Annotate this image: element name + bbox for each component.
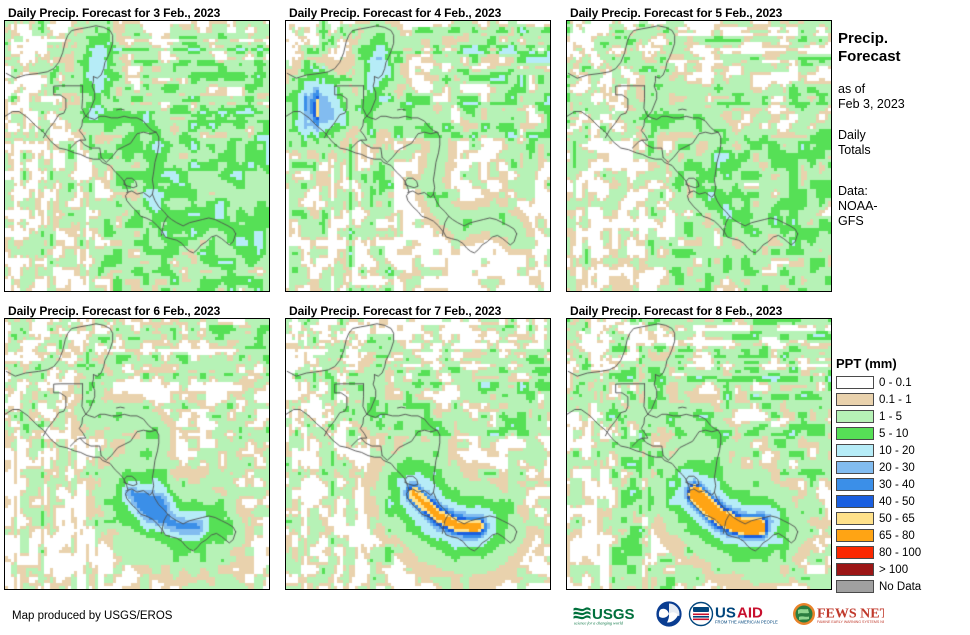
fewsnet-logo[interactable]: FEWS NET FAMINE EARLY WARNING SYSTEMS NE… [792,601,884,627]
legend-swatch [836,410,874,423]
legend-row: 0 - 0.1 [836,374,970,391]
legend-swatch [836,563,874,576]
map-canvas-frame[interactable] [285,20,551,292]
legend: PPT (mm) 0 - 0.10.1 - 11 - 55 - 1010 - 2… [836,356,970,595]
map-canvas-frame[interactable] [4,20,270,292]
legend-row: No Data [836,578,970,595]
panel-title: Daily Precip. Forecast for 7 Feb., 2023 [289,304,551,318]
legend-swatch [836,444,874,457]
sidebar-title: Precip. Forecast [838,30,970,66]
data-line3: GFS [838,214,970,229]
legend-label: 20 - 30 [879,462,915,474]
legend-row: 1 - 5 [836,408,970,425]
legend-swatch [836,546,874,559]
map-panel-1: Daily Precip. Forecast for 3 Feb., 2023 [4,6,270,292]
legend-label: No Data [879,581,921,593]
legend-label: 0.1 - 1 [879,394,912,406]
panel-title: Daily Precip. Forecast for 5 Feb., 2023 [570,6,832,20]
legend-label: 1 - 5 [879,411,902,423]
noaa-logo[interactable] [656,601,682,627]
svg-text:science for a changing world: science for a changing world [574,621,624,626]
precip-raster [5,319,269,589]
legend-swatch [836,512,874,525]
legend-label: 30 - 40 [879,479,915,491]
precip-raster [567,21,831,291]
legend-label: 10 - 20 [879,445,915,457]
precip-raster [286,21,550,291]
legend-label: 5 - 10 [879,428,908,440]
svg-text:FROM THE AMERICAN PEOPLE: FROM THE AMERICAN PEOPLE [715,620,778,625]
totals-line2: Totals [838,143,970,158]
agency-logos: USGS science for a changing world US [572,601,884,627]
legend-row: 5 - 10 [836,425,970,442]
legend-swatch [836,461,874,474]
legend-row: 80 - 100 [836,544,970,561]
sidebar-title-line1: Precip. [838,30,970,48]
legend-label: > 100 [879,564,908,576]
legend-title: PPT (mm) [836,356,970,371]
legend-row: > 100 [836,561,970,578]
legend-row: 65 - 80 [836,527,970,544]
legend-row: 10 - 20 [836,442,970,459]
legend-swatch [836,393,874,406]
data-line1: Data: [838,184,970,199]
precip-raster [5,21,269,291]
sidebar-datasource: Data: NOAA- GFS [838,184,970,229]
usgs-logo[interactable]: USGS science for a changing world [572,601,650,627]
panel-title: Daily Precip. Forecast for 8 Feb., 2023 [570,304,832,318]
precip-raster [567,319,831,589]
map-canvas-frame[interactable] [4,318,270,590]
legend-label: 0 - 0.1 [879,377,912,389]
data-line2: NOAA- [838,199,970,214]
precip-raster [286,319,550,589]
sidebar-asof: as of Feb 3, 2023 [838,82,970,112]
legend-rows: 0 - 0.10.1 - 11 - 55 - 1010 - 2020 - 303… [836,374,970,595]
legend-swatch [836,580,874,593]
map-panel-4: Daily Precip. Forecast for 6 Feb., 2023 [4,304,270,590]
panel-title: Daily Precip. Forecast for 4 Feb., 2023 [289,6,551,20]
legend-swatch [836,529,874,542]
legend-row: 20 - 30 [836,459,970,476]
legend-row: 50 - 65 [836,510,970,527]
legend-row: 30 - 40 [836,476,970,493]
totals-line1: Daily [838,128,970,143]
legend-swatch [836,495,874,508]
asof-line1: as of [838,82,970,97]
map-panel-2: Daily Precip. Forecast for 4 Feb., 2023 [285,6,551,292]
svg-text:FAMINE EARLY WARNING SYSTEMS N: FAMINE EARLY WARNING SYSTEMS NETWORK [817,620,884,624]
legend-row: 40 - 50 [836,493,970,510]
map-panel-5: Daily Precip. Forecast for 7 Feb., 2023 [285,304,551,590]
usaid-logo[interactable]: US AID FROM THE AMERICAN PEOPLE [688,601,786,627]
asof-line2: Feb 3, 2023 [838,97,970,112]
sidebar-totals: Daily Totals [838,128,970,158]
map-panel-6: Daily Precip. Forecast for 8 Feb., 2023 [566,304,832,590]
legend-label: 80 - 100 [879,547,921,559]
legend-swatch [836,478,874,491]
legend-row: 0.1 - 1 [836,391,970,408]
map-canvas-frame[interactable] [566,20,832,292]
legend-swatch [836,376,874,389]
sidebar-title-line2: Forecast [838,48,970,66]
legend-swatch [836,427,874,440]
map-credit: Map produced by USGS/EROS [12,610,172,622]
map-canvas-frame[interactable] [566,318,832,590]
panel-title: Daily Precip. Forecast for 3 Feb., 2023 [8,6,270,20]
legend-label: 65 - 80 [879,530,915,542]
map-canvas-frame[interactable] [285,318,551,590]
legend-label: 40 - 50 [879,496,915,508]
map-panel-3: Daily Precip. Forecast for 5 Feb., 2023 [566,6,832,292]
sidebar: Precip. Forecast as of Feb 3, 2023 Daily… [838,30,970,229]
legend-label: 50 - 65 [879,513,915,525]
panel-title: Daily Precip. Forecast for 6 Feb., 2023 [8,304,270,318]
